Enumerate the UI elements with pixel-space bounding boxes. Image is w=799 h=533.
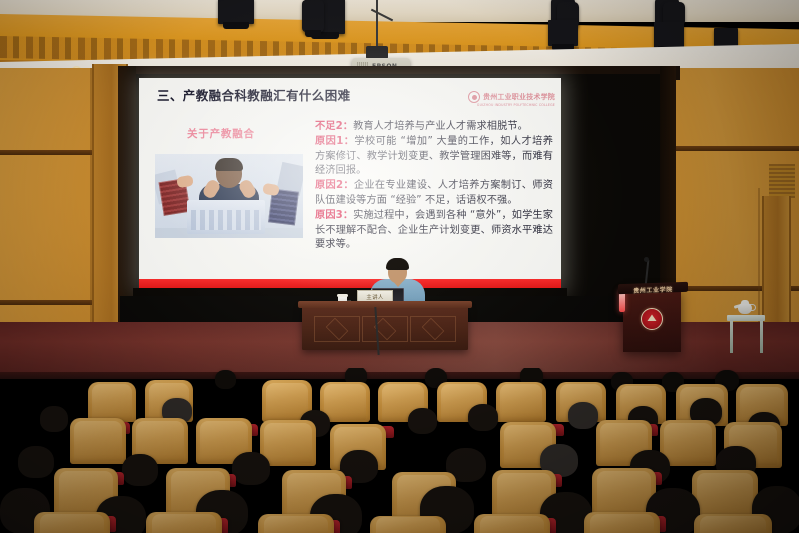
- seat[interactable]: [260, 420, 316, 466]
- seat[interactable]: [258, 514, 334, 533]
- audience-head: [468, 404, 498, 431]
- teapot: [738, 303, 752, 314]
- presenter-table: [302, 306, 468, 350]
- seat[interactable]: [474, 514, 550, 533]
- projection-screen: 三、产教融合科教融汇有什么困难 贵州工业职业技术学院 GUIZHOU INDUS…: [139, 78, 561, 290]
- projector-mount-rod: [376, 0, 378, 48]
- microphone-icon: [644, 257, 649, 262]
- seat[interactable]: [694, 514, 772, 533]
- stage-light: [654, 22, 684, 48]
- presenter-name-card-text: 主讲人: [358, 293, 392, 301]
- teapot-lid: [741, 300, 749, 304]
- audience-head: [122, 454, 158, 486]
- slide-paragraph-label: 不足2：: [315, 121, 353, 132]
- audience-head: [215, 370, 236, 389]
- institution-logo-text: 贵州工业职业技术学院: [483, 92, 555, 102]
- audience-head: [568, 402, 598, 429]
- slide-paragraph-text: 教育人才培养与产业人才需求相脱节。: [353, 121, 528, 132]
- lectern-header-plate: 贵州工业学院: [618, 282, 688, 294]
- institution-logo-subtext: GUIZHOU INDUSTRY POLYTECHNIC COLLEGE: [477, 103, 555, 107]
- seat[interactable]: [88, 382, 136, 422]
- institution-logo-mark: [468, 91, 480, 103]
- slide-paragraph: 不足2：教育人才培养与产业人才需求相脱节。: [315, 120, 553, 135]
- stage-light: [302, 0, 324, 32]
- presenter-hair: [386, 258, 409, 270]
- slide-paragraph: 原因1：学校可能 “增加” 大量的工作，如人才培养方案修订、教学计划变更、教学管…: [315, 135, 553, 179]
- audience-head: [232, 452, 270, 485]
- seat[interactable]: [496, 382, 546, 422]
- presenter-table-top: [298, 301, 472, 308]
- slide-paragraph: 原因2：企业在专业建设、人才培养方案制订、师资队伍建设等方面 “经验” 不足，话…: [315, 179, 553, 208]
- side-table-leg: [760, 321, 763, 353]
- seat[interactable]: [34, 512, 110, 533]
- audience-head: [408, 408, 437, 434]
- photo-laptop-keyboard: [191, 210, 261, 230]
- slide-subtitle: 关于产教融合: [187, 126, 255, 141]
- photo-person-hair: [215, 158, 243, 171]
- seat[interactable]: [146, 512, 222, 533]
- presenter-cup-lid: [337, 294, 348, 297]
- seat[interactable]: [70, 418, 126, 464]
- slide-paragraph-label: 原因1：: [315, 136, 354, 147]
- audience-head: [18, 446, 54, 478]
- proscenium-right-frame: [660, 66, 676, 316]
- seat[interactable]: [584, 512, 660, 533]
- audience-seating: [0, 368, 799, 533]
- institution-logo: 贵州工业职业技术学院: [468, 91, 555, 103]
- proscenium-left-frame: [118, 66, 136, 326]
- lectern: [623, 290, 681, 352]
- wall-vent-grille: [769, 164, 795, 198]
- wall-trim: [670, 146, 799, 151]
- slide-paragraph: 原因3：实施过程中，会遇到各种 “意外”，如学生家长不理解不配合、企业生产计划变…: [315, 209, 553, 253]
- audience-head: [40, 406, 68, 432]
- auditorium-scene: EPSON 三、产教融合科教融汇有什么困难 贵州工业职业技术学院 GUIZHOU…: [0, 0, 799, 533]
- photo-hand-right: [262, 183, 280, 197]
- slide-title: 三、产教融合科教融汇有什么困难: [157, 85, 351, 104]
- slide-photo-stressed-worker: [155, 154, 303, 238]
- slide-paragraph-label: 原因2：: [315, 180, 354, 191]
- photo-hand-left: [176, 175, 194, 189]
- stage-light: [548, 20, 578, 46]
- lectern-school-emblem: [641, 308, 663, 330]
- stage-light: [218, 0, 254, 24]
- slide-paragraph-label: 原因3：: [315, 210, 353, 221]
- seat[interactable]: [370, 516, 446, 533]
- slide-body-text: 不足2：教育人才培养与产业人才需求相脱节。 原因1：学校可能 “增加” 大量的工…: [315, 120, 553, 253]
- side-table-leg: [730, 321, 733, 353]
